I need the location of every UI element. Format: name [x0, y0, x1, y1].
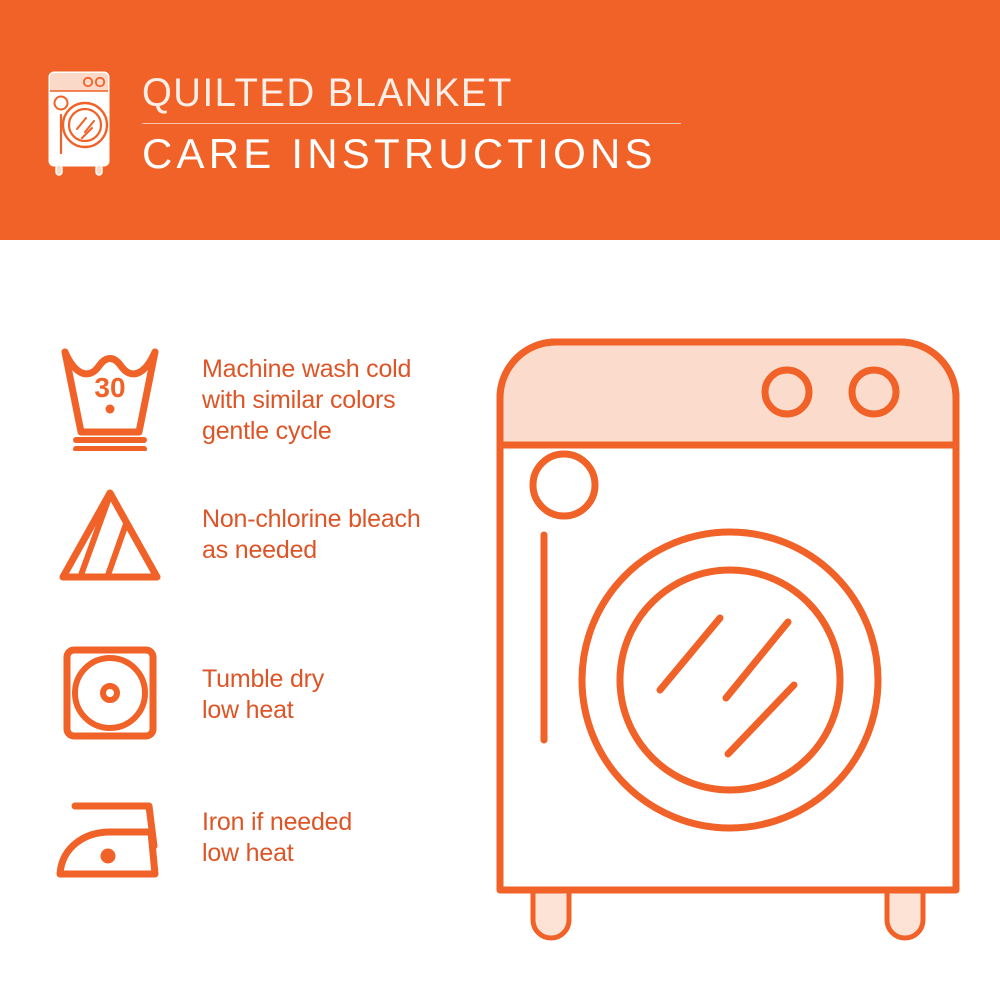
care-text-line: low heat: [202, 695, 324, 726]
care-text-line: Non-chlorine bleach: [202, 504, 421, 535]
washing-machine-icon: [44, 67, 116, 179]
care-text-line: low heat: [202, 838, 352, 869]
care-text-line: Machine wash cold: [202, 354, 411, 385]
page-title: QUILTED BLANKET: [142, 70, 718, 116]
header-title-block: QUILTED BLANKET CARE INSTRUCTIONS: [142, 70, 742, 178]
wash-temperature-label: 30: [94, 372, 125, 403]
care-text-line: as needed: [202, 535, 421, 566]
care-text-line: Tumble dry: [202, 664, 324, 695]
machine-control-panel: [503, 345, 953, 445]
page-subtitle: CARE INSTRUCTIONS: [142, 130, 742, 178]
header-banner: QUILTED BLANKET CARE INSTRUCTIONS: [0, 0, 1000, 240]
washing-machine-illustration: [488, 330, 968, 950]
title-divider: [142, 123, 681, 124]
care-item-wash-label: Machine wash cold with similar colors ge…: [202, 354, 411, 447]
iron-low-heat-icon: [50, 785, 170, 895]
care-text-line: with similar colors: [202, 385, 411, 416]
care-instructions-page: QUILTED BLANKET CARE INSTRUCTIONS 30: [0, 0, 1000, 1000]
wash-basin-30-gentle-icon: 30: [50, 340, 170, 450]
care-item-tumble-dry-label: Tumble dry low heat: [202, 664, 324, 726]
care-text-line: Iron if needed: [202, 807, 352, 838]
care-item-bleach-label: Non-chlorine bleach as needed: [202, 504, 421, 566]
care-text-line: gentle cycle: [202, 416, 411, 447]
non-chlorine-bleach-triangle-icon: [50, 480, 170, 590]
tumble-dry-low-heat-icon: [50, 640, 170, 750]
care-item-iron-label: Iron if needed low heat: [202, 807, 352, 869]
care-symbol-list: 30 Machine wash cold with similar colors…: [0, 240, 480, 1000]
